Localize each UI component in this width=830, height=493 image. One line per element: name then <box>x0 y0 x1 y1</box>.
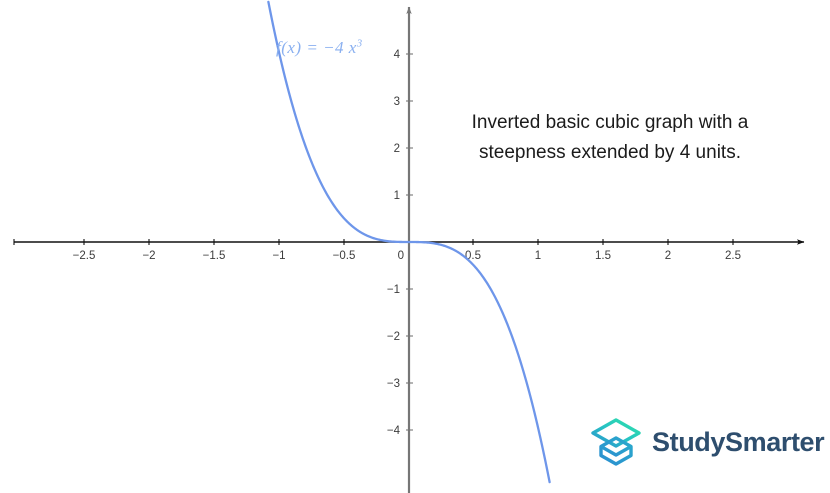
y-tick-label: 4 <box>394 49 401 61</box>
description-text: Inverted basic cubic graph with a steepn… <box>430 108 790 168</box>
studysmarter-wordmark: StudySmarter <box>652 429 824 456</box>
y-tick-label: −1 <box>387 284 400 296</box>
description-line-1: Inverted basic cubic graph with a <box>430 108 790 138</box>
x-tick-label: −2 <box>142 250 155 262</box>
y-tick-label: 1 <box>394 190 400 202</box>
x-tick-label: 2.5 <box>725 250 741 262</box>
studysmarter-box-logo-icon <box>590 416 642 468</box>
description-line-2: steepness extended by 4 units. <box>430 138 790 168</box>
y-tick-label: 2 <box>394 143 400 155</box>
y-tick-label: 3 <box>394 96 400 108</box>
x-tick-label: −1 <box>272 250 285 262</box>
function-exponent: 3 <box>357 38 363 49</box>
x-tick-label: 2 <box>665 250 671 262</box>
x-tick-label: 1.5 <box>595 250 611 262</box>
function-equation-label: f(x) = −4 x3 <box>276 38 363 58</box>
studysmarter-logo: StudySmarter <box>590 416 824 468</box>
x-tick-label: 1 <box>535 250 541 262</box>
x-tick-label: −1.5 <box>203 250 226 262</box>
origin-tick-label: 0 <box>398 250 404 262</box>
x-tick-label: −0.5 <box>333 250 356 262</box>
y-tick-label: −3 <box>387 378 400 390</box>
x-tick-label: −2.5 <box>73 250 96 262</box>
figure-canvas: −2.5 −2 −1.5 −1 −0.5 0 0.5 1 1.5 2 2.5 <box>0 0 830 493</box>
function-equation-text: f(x) = −4 x <box>276 38 357 57</box>
y-tick-label: −2 <box>387 331 400 343</box>
x-axis-tick-labels: −2.5 −2 −1.5 −1 −0.5 0 0.5 1 1.5 2 2.5 <box>73 250 741 262</box>
y-tick-label: −4 <box>387 425 401 437</box>
